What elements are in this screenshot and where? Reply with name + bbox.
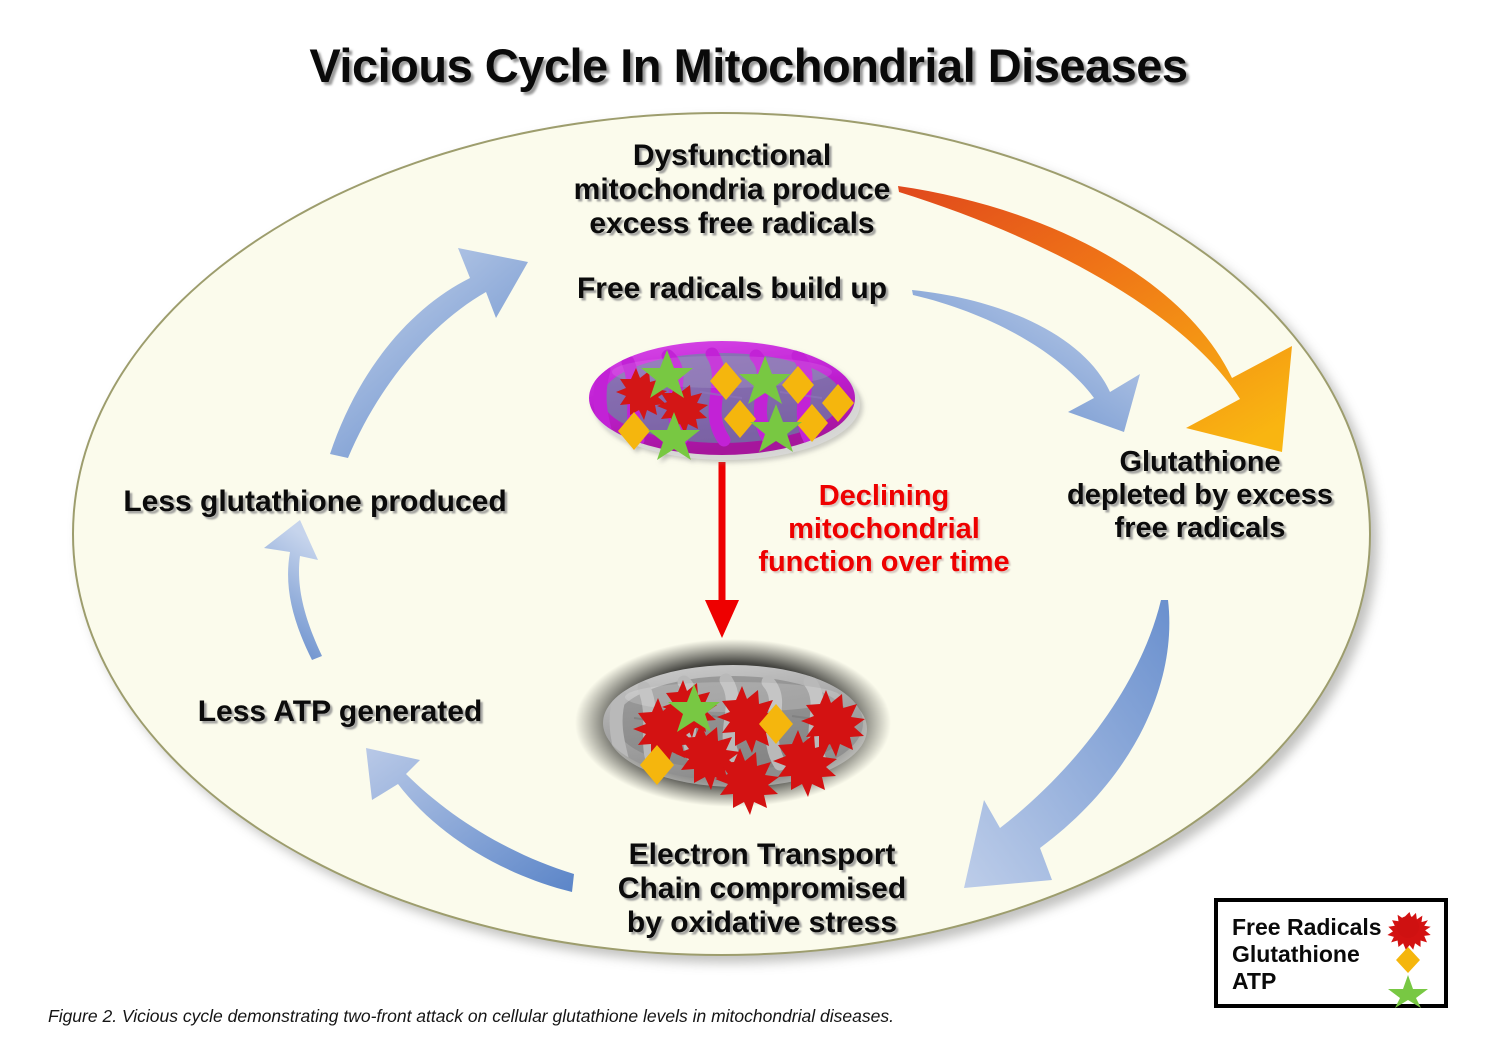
- label-free-radicals-build-up: Free radicals build up: [497, 272, 967, 306]
- red-spiky-burst-icon: [1387, 912, 1430, 950]
- legend-label-free-radicals: Free Radicals: [1232, 914, 1382, 941]
- label-declining-function: Declining mitochondrial function over ti…: [724, 480, 1044, 578]
- arrow-etc-to-less-atp: [366, 748, 574, 892]
- damaged-mitochondrion: [575, 639, 891, 815]
- label-electron-transport-chain: Electron Transport Chain compromised by …: [572, 838, 952, 940]
- arrow-glutathione-to-etc: [964, 600, 1169, 888]
- arrow-buildup-to-glutathione: [912, 290, 1140, 432]
- green-star-icon: [1388, 975, 1428, 1008]
- legend-label-atp: ATP: [1232, 968, 1382, 995]
- legend-icons: [1381, 906, 1435, 1008]
- label-less-glutathione-produced: Less glutathione produced: [80, 485, 550, 519]
- label-glutathione-depleted: Glutathione depleted by excess free radi…: [1030, 446, 1370, 544]
- label-dysfunctional-mitochondria: Dysfunctional mitochondria produce exces…: [497, 139, 967, 241]
- healthy-mitochondrion: [589, 341, 860, 460]
- legend-label-glutathione: Glutathione: [1232, 941, 1382, 968]
- legend-labels: Free Radicals Glutathione ATP: [1232, 914, 1382, 995]
- diagram-canvas: Vicious Cycle In Mitochondrial Diseases: [0, 0, 1497, 1058]
- legend-box: Free Radicals Glutathione ATP: [1214, 898, 1448, 1008]
- arrow-less-atp-to-less-glutathione: [264, 520, 322, 660]
- label-less-atp-generated: Less ATP generated: [140, 695, 540, 729]
- orange-diamond-icon: [1396, 947, 1420, 973]
- figure-caption: Figure 2. Vicious cycle demonstrating tw…: [48, 1006, 1148, 1027]
